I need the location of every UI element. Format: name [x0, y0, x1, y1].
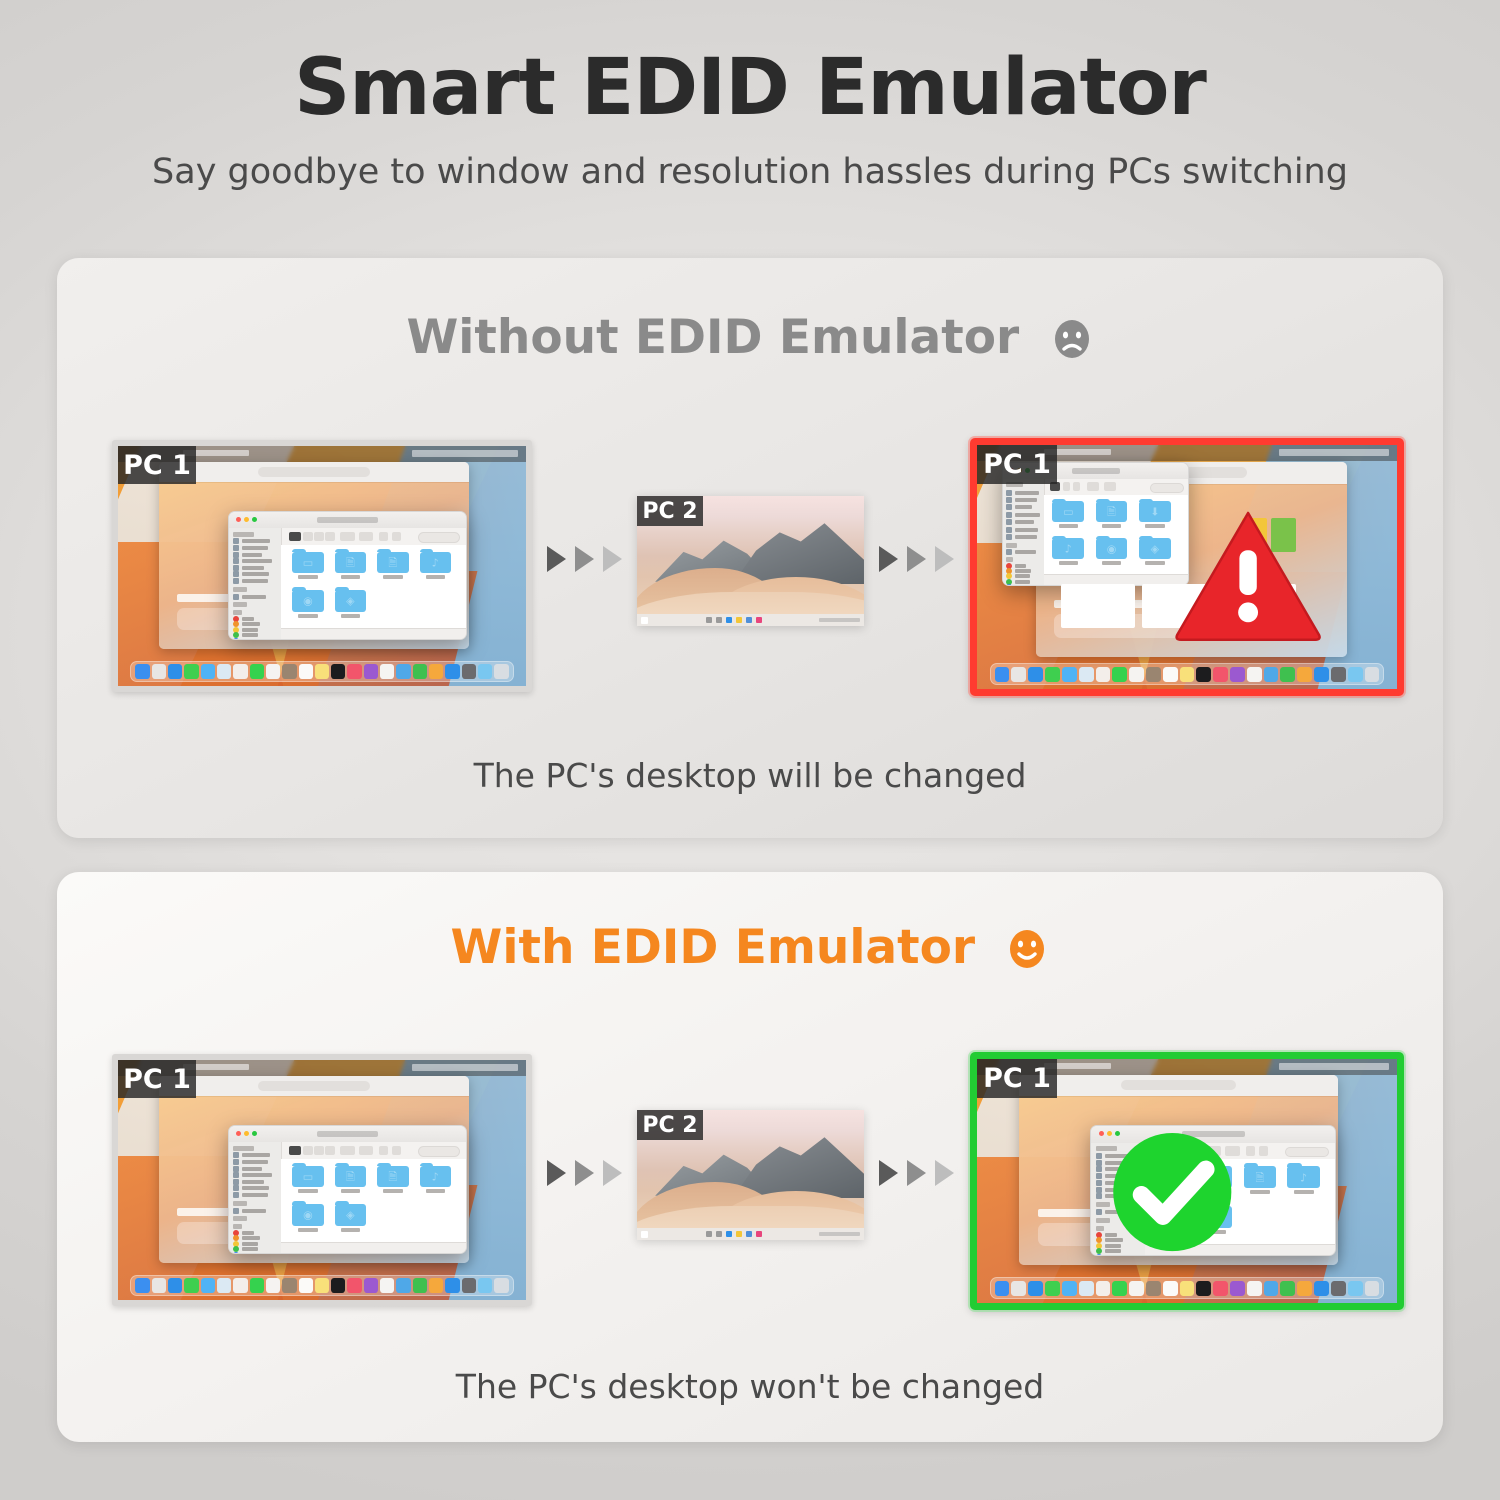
messages-icon[interactable] [1045, 1281, 1060, 1296]
safari-icon[interactable] [168, 1278, 182, 1292]
news-icon[interactable] [1247, 667, 1262, 682]
section-caption-with: The PC's desktop won't be changed [57, 1367, 1443, 1406]
finder-icon[interactable] [995, 667, 1010, 682]
store-icon[interactable] [746, 617, 752, 623]
arrow-right-icon [603, 546, 622, 572]
reminders-icon[interactable] [299, 664, 313, 678]
window-controls[interactable] [236, 1131, 257, 1136]
safari-icon[interactable] [1028, 1281, 1043, 1296]
reminders-icon[interactable] [1163, 1281, 1178, 1296]
flow-arrows [547, 546, 622, 572]
news-icon[interactable] [380, 1278, 394, 1292]
warning-triangle-icon [1162, 508, 1334, 642]
explorer-icon[interactable] [736, 1231, 742, 1237]
numbers-icon[interactable] [1280, 667, 1295, 682]
screen-pc2-with[interactable]: PC 2 [637, 1110, 864, 1240]
start-icon[interactable] [641, 617, 648, 624]
folder-item[interactable]: ♪ [1052, 538, 1084, 569]
finder-search-input[interactable] [418, 1146, 461, 1157]
section-heading-with-label: With EDID Emulator [451, 920, 976, 975]
page-title: Smart EDID Emulator [0, 48, 1500, 130]
keynote-icon[interactable] [396, 1278, 410, 1292]
news-icon[interactable] [380, 664, 394, 678]
edge-icon[interactable] [726, 617, 732, 623]
facetime-icon[interactable] [250, 1278, 264, 1292]
start-icon[interactable] [641, 1231, 648, 1238]
screen-pc1-result-error[interactable]: ▭ 🗎 ⬇ ♪ ◉ ◈ [970, 438, 1404, 696]
calendar-icon[interactable] [266, 1278, 280, 1292]
settings-icon[interactable] [1331, 667, 1346, 682]
photos-icon[interactable] [1096, 667, 1111, 682]
finder-search-input[interactable] [418, 532, 461, 543]
keynote-icon[interactable] [1264, 667, 1279, 682]
trash-icon[interactable] [494, 664, 508, 678]
messages-icon[interactable] [184, 1278, 198, 1292]
tv-icon[interactable] [1196, 667, 1211, 682]
section-heading-with: With EDID Emulator [57, 920, 1443, 983]
launchpad-icon[interactable] [152, 664, 166, 678]
finder-file-grid[interactable]: ▭ 🗎 🗎 ♪ ◉ ◈ [281, 1159, 466, 1243]
folder-item[interactable]: ▭ [292, 1166, 323, 1198]
mail-icon[interactable] [1062, 1281, 1077, 1296]
reminders-icon[interactable] [299, 1278, 313, 1292]
photos-icon[interactable] [233, 1278, 247, 1292]
arrow-right-icon [907, 1160, 926, 1186]
settings-icon[interactable] [462, 664, 476, 678]
music-icon[interactable] [347, 664, 361, 678]
page-subtitle: Say goodbye to window and resolution has… [0, 152, 1500, 192]
maximize-icon[interactable] [252, 1131, 257, 1136]
system-tray[interactable] [819, 1232, 860, 1236]
folder-item[interactable]: 🗎 [377, 1166, 408, 1198]
section-heading-without-label: Without EDID Emulator [406, 310, 1019, 365]
finder-statusbar [281, 628, 466, 639]
safari-icon[interactable] [1028, 667, 1043, 682]
windows-taskbar[interactable] [637, 614, 864, 626]
numbers-icon[interactable] [413, 1278, 427, 1292]
finder-window[interactable]: ▭ 🗎 🗎 ♪ ◉ ◈ [228, 1125, 467, 1254]
maps-icon[interactable] [217, 1278, 231, 1292]
pc-label-badge: PC 2 [637, 496, 703, 526]
mail-icon[interactable] [1062, 667, 1077, 682]
notes-icon[interactable] [1180, 1281, 1195, 1296]
finder-titlebar [229, 512, 466, 530]
appstore-icon[interactable] [445, 1278, 459, 1292]
finder-toolbar[interactable] [281, 1142, 466, 1160]
flow-arrows [547, 1160, 622, 1186]
keynote-icon[interactable] [396, 664, 410, 678]
facetime-icon[interactable] [1112, 1281, 1127, 1296]
finder-window-title [1072, 468, 1120, 474]
downloads-folder-icon[interactable] [478, 664, 492, 678]
arrow-right-icon [547, 546, 566, 572]
appstore-icon[interactable] [1314, 1281, 1329, 1296]
finder-icon[interactable] [135, 1278, 149, 1292]
arrow-right-icon [547, 1160, 566, 1186]
finder-window-title [317, 517, 379, 523]
folder-item[interactable]: ◉ [292, 1204, 323, 1236]
minimize-icon[interactable] [244, 517, 249, 522]
podcasts-icon[interactable] [1230, 667, 1245, 682]
tv-icon[interactable] [331, 1278, 345, 1292]
notes-icon[interactable] [315, 1278, 329, 1292]
macos-dock[interactable] [130, 1275, 514, 1297]
finder-sidebar[interactable] [229, 1142, 282, 1253]
arrow-right-icon [575, 1160, 594, 1186]
downloads-folder-icon[interactable] [478, 1278, 492, 1292]
pc-label-badge: PC 1 [118, 1060, 196, 1098]
pc-label-badge: PC 2 [637, 1110, 703, 1140]
finder-titlebar [229, 1126, 466, 1144]
pages-icon[interactable] [1297, 667, 1312, 682]
news-icon[interactable] [1247, 1281, 1262, 1296]
arrow-right-icon [907, 546, 926, 572]
messages-icon[interactable] [184, 664, 198, 678]
arrow-right-icon [879, 546, 898, 572]
section-without-edid: Without EDID Emulator [57, 258, 1443, 838]
arrow-right-icon [575, 546, 594, 572]
mail-icon[interactable] [201, 664, 215, 678]
mail-icon[interactable] [201, 1278, 215, 1292]
folder-item[interactable]: ◉ [1096, 538, 1128, 569]
pages-icon[interactable] [429, 664, 443, 678]
finder-sidebar[interactable] [229, 528, 282, 639]
finder-icon[interactable] [995, 1281, 1010, 1296]
edge-icon[interactable] [726, 1231, 732, 1237]
calendar-icon[interactable] [1129, 667, 1144, 682]
notes-icon[interactable] [1180, 667, 1195, 682]
screen-pc1-source-with[interactable]: ▭ 🗎 🗎 ♪ ◉ ◈ [112, 1054, 532, 1306]
pc-label-badge: PC 1 [977, 1059, 1057, 1098]
messages-icon[interactable] [1045, 667, 1060, 682]
reminders-icon[interactable] [1163, 667, 1178, 682]
contacts-icon[interactable] [282, 664, 296, 678]
flow-arrows [879, 1160, 954, 1186]
music-icon[interactable] [1213, 667, 1228, 682]
macos-dock[interactable] [990, 663, 1385, 685]
folder-item[interactable]: 🗎 [1244, 1166, 1276, 1198]
keynote-icon[interactable] [1264, 1281, 1279, 1296]
finder-sidebar[interactable] [1003, 479, 1045, 585]
safari-icon[interactable] [168, 664, 182, 678]
folder-item[interactable]: ▭ [292, 552, 323, 584]
trash-icon[interactable] [1365, 667, 1380, 682]
minimize-icon[interactable] [244, 1131, 249, 1136]
page-header: Smart EDID Emulator Say goodbye to windo… [0, 0, 1500, 192]
sad-face-icon [1050, 317, 1094, 373]
finder-window[interactable]: ▭ 🗎 🗎 ♪ ◉ ◈ [228, 511, 467, 640]
mail-icon[interactable] [756, 1231, 762, 1237]
finder-search-input[interactable] [1150, 483, 1184, 493]
downloads-folder-icon[interactable] [1348, 1281, 1363, 1296]
maps-icon[interactable] [1079, 667, 1094, 682]
pc-label-badge: PC 1 [118, 446, 196, 484]
folder-item[interactable]: 🗎 [335, 552, 366, 584]
section-with-edid: With EDID Emulator [57, 872, 1443, 1442]
screen-pc1-result-success[interactable]: ▭ 🗎 🗎 ♪ ◉ ◈ [970, 1052, 1404, 1310]
system-tray[interactable] [819, 618, 860, 622]
notes-icon[interactable] [315, 664, 329, 678]
folder-item[interactable]: ◈ [335, 590, 366, 622]
folder-item[interactable]: ◈ [335, 1204, 366, 1236]
folder-item[interactable]: 🗎 [1096, 501, 1128, 532]
settings-icon[interactable] [1331, 1281, 1346, 1296]
smiley-face-icon [1005, 927, 1049, 983]
folder-item[interactable]: ◉ [292, 590, 323, 622]
folder-item[interactable]: 🗎 [377, 552, 408, 584]
numbers-icon[interactable] [413, 664, 427, 678]
store-icon[interactable] [746, 1231, 752, 1237]
contacts-icon[interactable] [1146, 667, 1161, 682]
calendar-icon[interactable] [1129, 1281, 1144, 1296]
contacts-icon[interactable] [282, 1278, 296, 1292]
pages-icon[interactable] [429, 1278, 443, 1292]
finder-search-input[interactable] [1285, 1147, 1329, 1158]
finder-file-grid[interactable]: ▭ 🗎 🗎 ♪ ◉ ◈ [281, 545, 466, 629]
appstore-icon[interactable] [1314, 667, 1329, 682]
folder-item[interactable]: ♪ [420, 1166, 451, 1198]
flow-arrows [879, 546, 954, 572]
folder-item[interactable]: ♪ [420, 552, 451, 584]
close-icon[interactable] [236, 517, 241, 522]
downloads-folder-icon[interactable] [1348, 667, 1363, 682]
trash-icon[interactable] [494, 1278, 508, 1292]
mail-icon[interactable] [756, 617, 762, 623]
folder-item[interactable]: ▭ [1052, 501, 1084, 532]
maximize-icon[interactable] [252, 517, 257, 522]
check-circle-icon [1103, 1125, 1242, 1259]
launchpad-icon[interactable] [152, 1278, 166, 1292]
search-icon[interactable] [706, 617, 712, 623]
appstore-icon[interactable] [445, 664, 459, 678]
launchpad-icon[interactable] [1011, 1281, 1026, 1296]
tv-icon[interactable] [1196, 1281, 1211, 1296]
trash-icon[interactable] [1365, 1281, 1380, 1296]
finder-toolbar[interactable] [1044, 479, 1188, 496]
section-heading-without: Without EDID Emulator [57, 310, 1443, 373]
macos-dock[interactable] [130, 661, 514, 683]
numbers-icon[interactable] [1280, 1281, 1295, 1296]
photos-icon[interactable] [233, 664, 247, 678]
maps-icon[interactable] [217, 664, 231, 678]
close-icon[interactable] [236, 1131, 241, 1136]
photos-icon[interactable] [1096, 1281, 1111, 1296]
section-caption-without: The PC's desktop will be changed [57, 756, 1443, 795]
launchpad-icon[interactable] [1011, 667, 1026, 682]
podcasts-icon[interactable] [364, 1278, 378, 1292]
podcasts-icon[interactable] [1230, 1281, 1245, 1296]
maps-icon[interactable] [1079, 1281, 1094, 1296]
screen-pc2-without[interactable]: PC 2 [637, 496, 864, 626]
facetime-icon[interactable] [250, 664, 264, 678]
finder-icon[interactable] [135, 664, 149, 678]
taskview-icon[interactable] [716, 617, 722, 623]
search-icon[interactable] [706, 1231, 712, 1237]
macos-dock[interactable] [990, 1277, 1385, 1299]
music-icon[interactable] [1213, 1281, 1228, 1296]
settings-icon[interactable] [462, 1278, 476, 1292]
windows-taskbar[interactable] [637, 1228, 864, 1240]
arrow-right-icon [935, 1160, 954, 1186]
infographic-page: Smart EDID Emulator Say goodbye to windo… [0, 0, 1500, 1500]
calendar-icon[interactable] [266, 664, 280, 678]
explorer-icon[interactable] [736, 617, 742, 623]
arrow-right-icon [603, 1160, 622, 1186]
finder-statusbar [281, 1242, 466, 1253]
facetime-icon[interactable] [1112, 667, 1127, 682]
folder-item[interactable]: 🗎 [335, 1166, 366, 1198]
taskview-icon[interactable] [716, 1231, 722, 1237]
podcasts-icon[interactable] [364, 664, 378, 678]
pages-icon[interactable] [1297, 1281, 1312, 1296]
folder-item[interactable]: ♪ [1287, 1166, 1319, 1198]
window-controls[interactable] [236, 517, 257, 522]
finder-window-title [317, 1131, 379, 1137]
arrow-right-icon [935, 546, 954, 572]
arrow-right-icon [879, 1160, 898, 1186]
screen-pc1-source-without[interactable]: ▭ 🗎 🗎 ♪ ◉ ◈ [112, 440, 532, 692]
music-icon[interactable] [347, 1278, 361, 1292]
pc-label-badge: PC 1 [977, 445, 1057, 484]
finder-toolbar[interactable] [281, 528, 466, 546]
tv-icon[interactable] [331, 664, 345, 678]
contacts-icon[interactable] [1146, 1281, 1161, 1296]
